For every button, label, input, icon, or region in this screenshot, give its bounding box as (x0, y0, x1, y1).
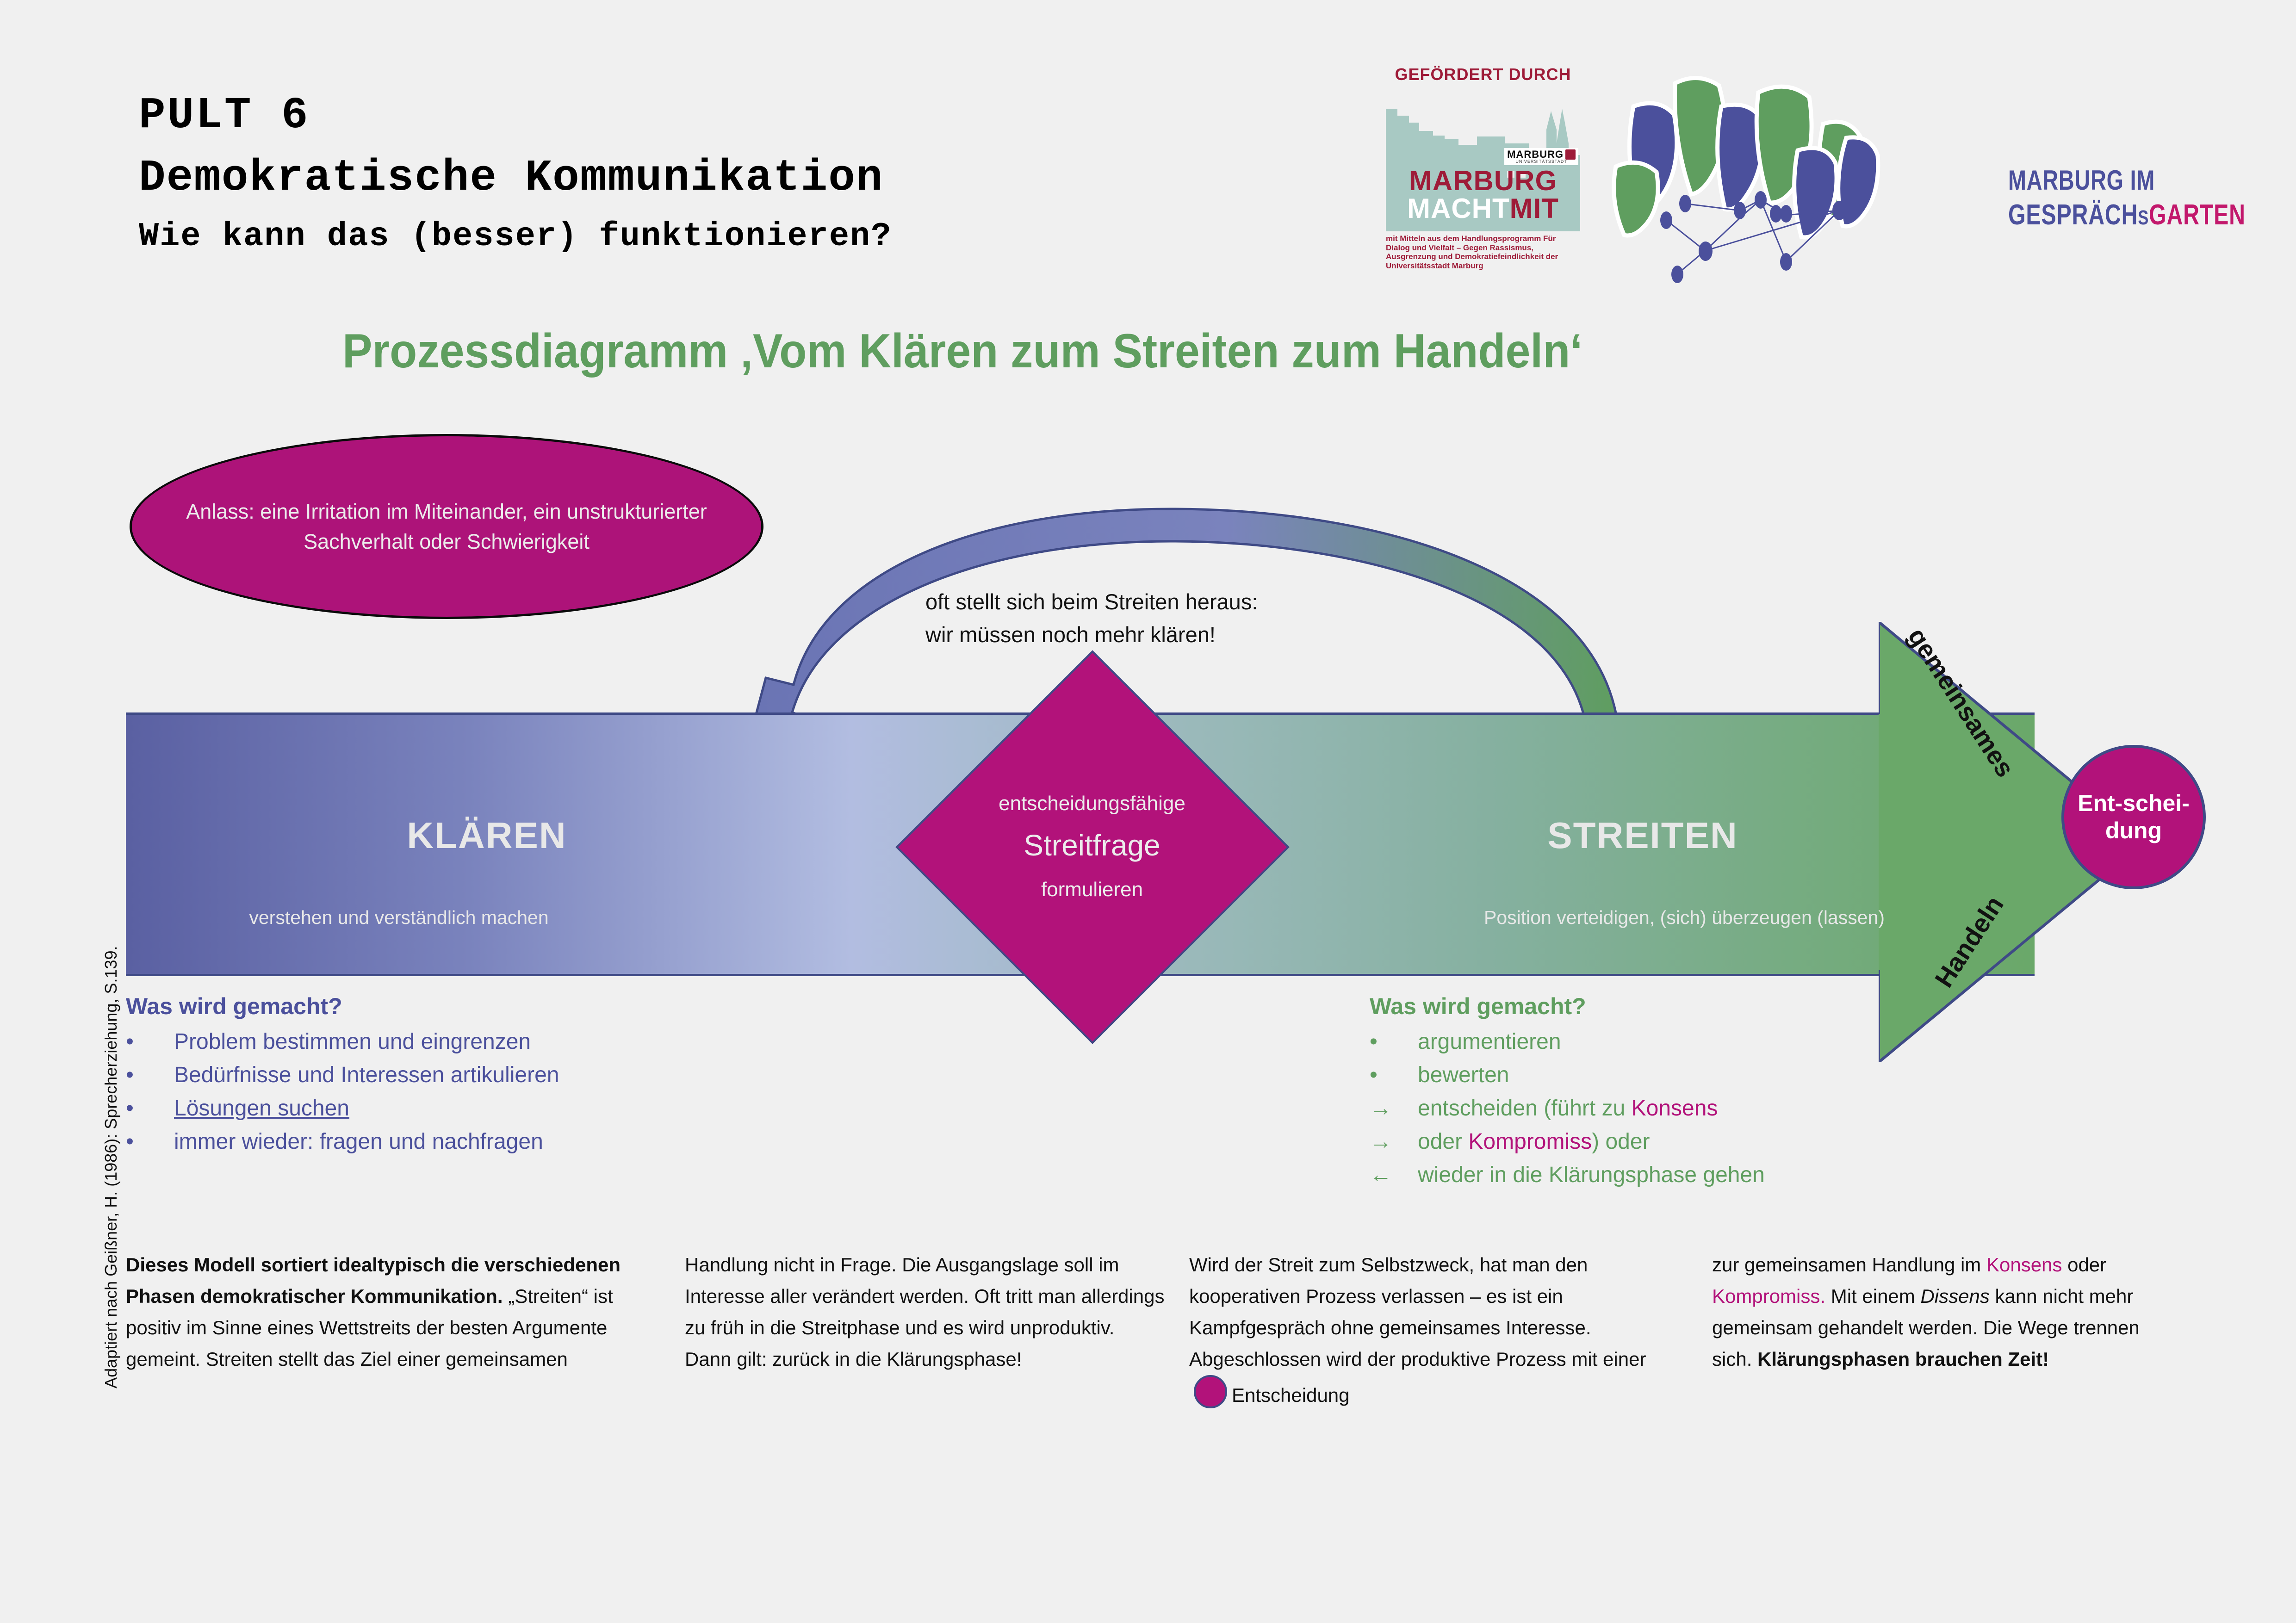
list-item: • Problem bestimmen und eingrenzen (126, 1031, 866, 1053)
phase-streiten-label: STREITEN (1411, 814, 1874, 857)
streiten-activity-list: Was wird gemacht? • argumentieren • bewe… (1370, 995, 2064, 1197)
list-item-label: immer wieder: fragen und nachfragen (174, 1131, 866, 1153)
header-subtitle: Wie kann das (besser) funktionieren? (139, 217, 892, 255)
header-title: Demokratische Kommunikation (139, 153, 883, 203)
list-item-label: argumentieren (1418, 1031, 2064, 1053)
phase-klaeren-subtitle: verstehen und verständlich machen (126, 907, 672, 929)
marburg-city-wordmark: MARBURG UNIVERSITÄTSSTADT (1504, 148, 1578, 165)
entscheidung-label: Ent-schei-dung (2064, 790, 2203, 844)
konsens-keyword: Konsens (1632, 1096, 1718, 1121)
phase-streiten-subtitle: Position verteidigen, (sich) überzeugen … (1397, 907, 1971, 929)
bullet-icon: • (1370, 1031, 1418, 1053)
entscheidung-circle: Ent-schei-dung (2061, 745, 2206, 889)
list-item: • Lösungen suchen (126, 1097, 866, 1120)
diamond-labels: entscheidungsfähige Streitfrage formulie… (898, 652, 1286, 1041)
klaeren-activity-list: Was wird gemacht? • Problem bestimmen un… (126, 995, 866, 1164)
list-item-label: wieder in die Klärungsphase gehen (1418, 1164, 2064, 1186)
bottom-column-4: zur gemeinsamen Handlung im Konsens oder… (1712, 1249, 2184, 1375)
list-item-label: Lösungen suchen (174, 1097, 866, 1120)
diamond-line3: formulieren (1041, 878, 1143, 901)
diamond-line1: entscheidungsfähige (999, 792, 1185, 815)
list-item-label: Problem bestimmen und eingrenzen (174, 1031, 866, 1053)
bottom-column-2: Handlung nicht in Frage. Die Ausgangslag… (685, 1249, 1166, 1375)
bullet-icon: • (1370, 1064, 1418, 1086)
gespraechsgarten-wordmark: MARBURG IM GESPRÄCHSGARTEN (2008, 167, 2296, 229)
gg-line1: MARBURG IM (2008, 167, 2246, 194)
city-shield-icon (1565, 149, 1576, 160)
c4-bold-text: Klärungsphasen brauchen Zeit! (1757, 1348, 2049, 1370)
diagram-title: Prozessdiagramm ‚Vom Klären zum Streiten… (342, 324, 1582, 379)
c4-text-b: oder (2062, 1254, 2106, 1276)
konsens-keyword: Konsens (1986, 1254, 2062, 1276)
logo-gespraechsgarten: MARBURG IM GESPRÄCHSGARTEN (1606, 51, 2198, 291)
c3-text-a: Wird der Streit zum Selbstzweck, hat man… (1189, 1254, 1646, 1370)
bullet-icon: • (126, 1131, 174, 1153)
list-item: → oder Kompromiss) oder (1370, 1131, 2064, 1153)
arrow-right-icon: → (1370, 1131, 1418, 1153)
page-title: PULT 6 (139, 90, 310, 141)
feedback-arrow-note: oft stellt sich beim Streiten heraus: wi… (925, 585, 1258, 651)
c4-text-c: Mit einem (1825, 1285, 1920, 1307)
source-note: Adaptiert nach Geißner, H. (1986): Sprec… (101, 768, 121, 1388)
c3-text-b: Entscheidung (1232, 1384, 1350, 1406)
phase-klaeren-label: KLÄREN (126, 814, 848, 857)
anlass-text: Anlass: eine Irritation im Miteinander, … (148, 496, 745, 557)
streitfrage-diamond: entscheidungsfähige Streitfrage formulie… (898, 652, 1286, 1041)
funded-by-label: GEFÖRDERT DURCH (1381, 65, 1585, 84)
logo-line-machtmit: MACHTMIT (1386, 195, 1580, 222)
list-item: → entscheiden (führt zu Konsens (1370, 1097, 2064, 1120)
list-item-label: Bedürfnisse und Interessen artikulieren (174, 1064, 866, 1086)
marburg-skyline-box: MARBURG UNIVERSITÄTSSTADT MARBURG MACHTM… (1386, 88, 1580, 231)
list-item: • argumentieren (1370, 1031, 2064, 1053)
left-list-heading: Was wird gemacht? (126, 995, 866, 1018)
list-item: • immer wieder: fragen und nachfragen (126, 1131, 866, 1153)
kompromiss-keyword: Kompromiss (1468, 1129, 1592, 1154)
feedback-note-line2: wir müssen noch mehr klären! (925, 618, 1258, 651)
bullet-icon: • (126, 1031, 174, 1053)
right-list-heading: Was wird gemacht? (1370, 995, 2064, 1018)
logo-marburg-macht-mit: GEFÖRDERT DURCH MARBURG UNIVERSITÄTSSTAD… (1381, 65, 1585, 270)
list-item-label: entscheiden (führt zu Konsens (1418, 1097, 2064, 1120)
arrow-left-icon: ← (1370, 1164, 1418, 1186)
arrow-right-icon: → (1370, 1097, 1418, 1120)
list-item-label: oder Kompromiss) oder (1418, 1131, 2064, 1153)
feedback-note-line1: oft stellt sich beim Streiten heraus: (925, 585, 1258, 618)
list-item: • Bedürfnisse und Interessen artikuliere… (126, 1064, 866, 1086)
list-item-label: bewerten (1418, 1064, 2064, 1086)
logo-line-marburg: MARBURG (1386, 167, 1580, 194)
bottom-column-1: Dieses Modell sortiert idealtypisch die … (126, 1249, 653, 1375)
gg-line2: GESPRÄCHSGARTEN (2008, 201, 2246, 229)
list-item: ← wieder in die Klärungsphase gehen (1370, 1164, 2064, 1186)
entscheidung-dot-icon (1194, 1375, 1227, 1408)
list-item: • bewerten (1370, 1064, 2064, 1086)
plant-network-icon (1606, 51, 2022, 291)
dissens-keyword: Dissens (1920, 1285, 1989, 1307)
kompromiss-keyword: Kompromiss. (1712, 1285, 1825, 1307)
diamond-line2: Streitfrage (1024, 828, 1160, 862)
anlass-ellipse: Anlass: eine Irritation im Miteinander, … (130, 434, 763, 619)
poster-canvas: PULT 6 Demokratische Kommunikation Wie k… (0, 0, 2296, 1623)
c4-text-a: zur gemeinsamen Handlung im (1712, 1254, 1986, 1276)
funding-footnote: mit Mitteln aus dem Handlungsprogramm Fü… (1386, 234, 1580, 270)
bullet-icon: • (126, 1097, 174, 1120)
bullet-icon: • (126, 1064, 174, 1086)
bottom-column-3: Wird der Streit zum Selbstzweck, hat man… (1189, 1249, 1689, 1411)
